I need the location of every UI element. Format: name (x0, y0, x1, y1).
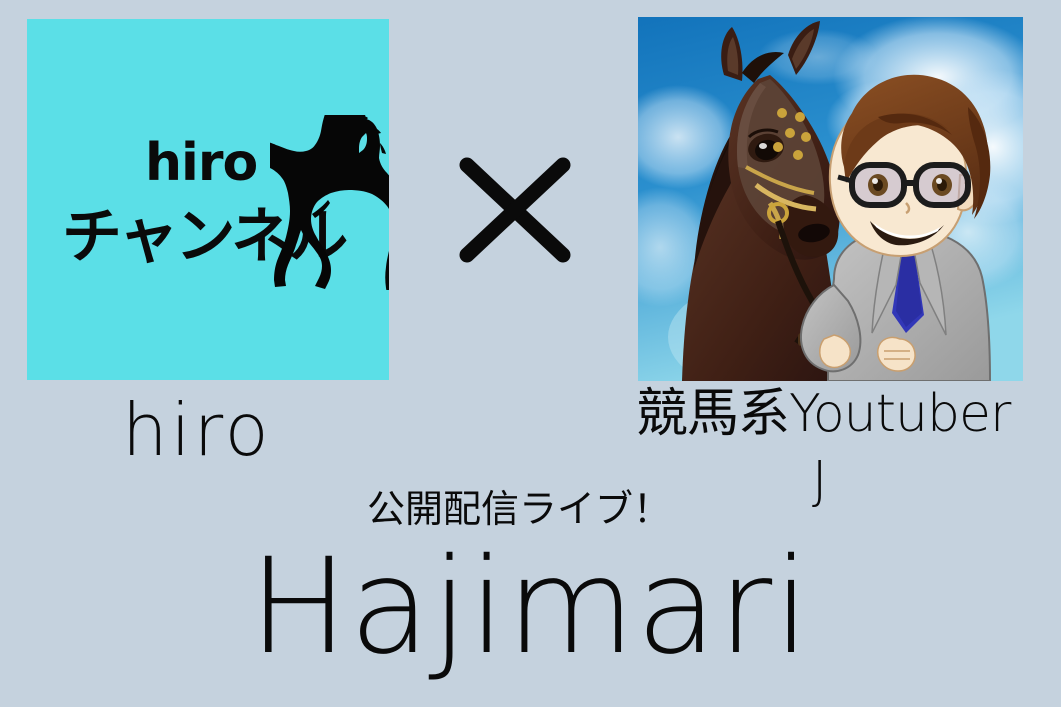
caption-subtitle: 公開配信ライブ！ (367, 490, 671, 528)
caption-right-role-second-line: J (812, 455, 827, 507)
youtuber-avatar-illustration (638, 17, 1023, 381)
poster-canvas: hiro チャンネル (0, 0, 1061, 707)
logo-text-hiro: hiro (145, 137, 257, 189)
caption-left-name: hiro (122, 394, 272, 466)
logo-inner: hiro チャンネル (27, 19, 389, 380)
caption-right-role: 競馬系Youtuber (636, 388, 1010, 440)
x-cross-icon (455, 155, 575, 265)
hiro-channel-logo-card: hiro チャンネル (27, 19, 389, 380)
page-title: Hajimari (249, 541, 811, 673)
rearing-horse-silhouette-icon (270, 115, 389, 290)
